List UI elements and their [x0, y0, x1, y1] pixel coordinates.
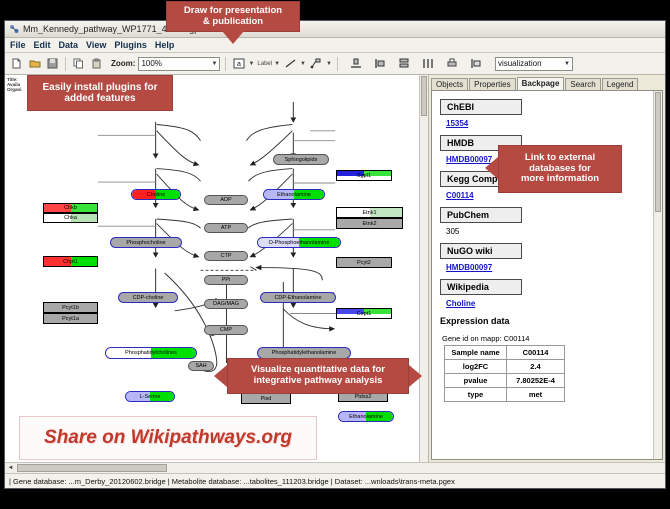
expression-table: Sample name C00114 log2FC 2.4 pvalue 7.8…: [444, 345, 565, 402]
node-ctp[interactable]: CTP: [204, 251, 248, 261]
svg-text:a: a: [237, 61, 241, 68]
open-folder-icon[interactable]: [27, 56, 42, 71]
canvas-horizontal-scrollbar[interactable]: ◄: [5, 462, 665, 473]
distribute-icon[interactable]: [421, 56, 436, 71]
chevron-down-icon[interactable]: ▼: [300, 61, 306, 67]
node-atp[interactable]: ATP: [204, 223, 248, 233]
pathvisio-window: Mm_Kennedy_pathway_WP1771_45176.gpml Fil…: [4, 20, 666, 489]
node-ethanolamine[interactable]: Ethanolamine: [263, 189, 325, 200]
share-banner: Share on Wikipathways.org: [19, 416, 317, 460]
tab-objects[interactable]: Objects: [431, 78, 468, 90]
tab-properties[interactable]: Properties: [469, 78, 515, 90]
tab-legend[interactable]: Legend: [602, 78, 639, 90]
toolbar-separator-3: [337, 57, 338, 71]
toolbar-separator-1: [65, 57, 66, 71]
toolbar-separator-2: [225, 57, 226, 71]
callout-link-arrow: [485, 157, 498, 179]
callout-draw-line1: Draw for presentation: [184, 6, 282, 17]
align-left-icon[interactable]: [373, 56, 388, 71]
label-tool-label[interactable]: Label: [257, 61, 272, 67]
callout-link: Link to external databases for more info…: [498, 145, 622, 193]
callout-visualize-arrow-right: [409, 365, 422, 387]
chevron-down-icon: ▼: [211, 61, 217, 67]
visualization-value: visualization: [498, 59, 542, 68]
expr-key-sample-name: Sample name: [445, 346, 507, 360]
table-row: type met: [445, 388, 565, 402]
node-cdp-choline[interactable]: CDP-choline: [118, 292, 178, 303]
sidebar-tabs: Objects Properties Backpage Search Legen…: [429, 75, 665, 90]
node-cmp[interactable]: CMP: [204, 325, 248, 335]
sidebar-vscroll-thumb[interactable]: [655, 92, 661, 212]
db-link-chebi[interactable]: 15354: [446, 119, 662, 128]
chevron-down-icon: ▼: [564, 61, 570, 67]
pathway-canvas-pane[interactable]: Title: Availa Organi: [5, 75, 429, 462]
db-header-chebi: ChEBI: [440, 99, 522, 115]
text-label-icon[interactable]: a: [231, 56, 246, 71]
callout-plugins: Easily install plugins for added feature…: [27, 75, 173, 111]
title-bar: Mm_Kennedy_pathway_WP1771_45176.gpml: [5, 21, 665, 38]
gene-pisd[interactable]: Pisd: [241, 393, 291, 404]
align-bottom-icon[interactable]: [349, 56, 364, 71]
expr-key-log2fc: log2FC: [445, 360, 507, 374]
canvas-hscroll-thumb[interactable]: [17, 464, 167, 472]
expression-data-heading: Expression data: [440, 316, 662, 326]
table-row: log2FC 2.4: [445, 360, 565, 374]
node-sphingolipids[interactable]: Sphingolipids: [273, 154, 329, 165]
node-choline-top[interactable]: Choline: [131, 189, 181, 200]
callout-link-line3: more information: [521, 174, 599, 185]
scroll-left-icon[interactable]: ◄: [5, 464, 16, 473]
order-icon[interactable]: [469, 56, 484, 71]
menu-item-plugins[interactable]: Plugins: [114, 40, 147, 50]
table-row: Sample name C00114: [445, 346, 565, 360]
new-file-icon[interactable]: [9, 56, 24, 71]
gene-pcyt1b[interactable]: Pcyt1b: [43, 302, 98, 313]
print-icon[interactable]: [445, 56, 460, 71]
node-phosphatidylcholines[interactable]: Phosphatidylcholines: [105, 347, 197, 359]
gene-chkb[interactable]: Chkb: [43, 203, 98, 213]
stack-vertical-icon[interactable]: [397, 56, 412, 71]
canvas-vscroll-thumb[interactable]: [421, 76, 427, 116]
gene-pcyt1a[interactable]: Pcyt1a: [43, 313, 98, 324]
main-split: Title: Availa Organi: [5, 75, 665, 462]
expr-value-log2fc: 2.4: [507, 360, 565, 374]
tab-search[interactable]: Search: [565, 78, 600, 90]
zoom-combo[interactable]: 100% ▼: [138, 57, 220, 71]
gene-pcyt2[interactable]: Pcyt2: [336, 257, 392, 268]
node-l-serine-left[interactable]: L-Serine: [125, 391, 175, 402]
menu-item-help[interactable]: Help: [155, 40, 175, 50]
gene-id-on-mapp: Gene id on mapp: C00114: [442, 334, 662, 343]
chevron-down-icon[interactable]: ▼: [326, 61, 332, 67]
expr-value-sample-name: C00114: [507, 346, 565, 360]
callout-link-line1: Link to external: [525, 153, 595, 164]
gene-chpt1[interactable]: Chpt1: [43, 256, 98, 267]
menu-item-edit[interactable]: Edit: [34, 40, 51, 50]
node-adp[interactable]: ADP: [204, 195, 248, 205]
menu-bar: File Edit Data View Plugins Help: [5, 38, 665, 53]
node-sah[interactable]: SAH: [188, 361, 214, 371]
copy-icon[interactable]: [71, 56, 86, 71]
gene-cept1[interactable]: Cept1: [336, 308, 392, 319]
node-phosphocholine[interactable]: Phosphocholine: [110, 237, 182, 248]
node-ppi[interactable]: PPi: [204, 275, 248, 285]
node-cdp-ethanolamine[interactable]: CDP-Ethanolamine: [260, 292, 336, 303]
line-icon[interactable]: [283, 56, 298, 71]
callout-visualize-arrow-left: [214, 365, 227, 387]
db-header-nugo: NuGO wiki: [440, 243, 522, 259]
share-banner-text: Share on Wikipathways.org: [44, 427, 292, 449]
save-icon[interactable]: [45, 56, 60, 71]
chevron-down-icon[interactable]: ▼: [274, 61, 280, 67]
node-o-phosphoethanolamine[interactable]: O-Phosphoethanolamine: [257, 237, 341, 248]
visualization-combo[interactable]: visualization ▼: [495, 57, 573, 71]
expr-key-type: type: [445, 388, 507, 402]
tab-backpage[interactable]: Backpage: [517, 77, 565, 90]
menu-item-file[interactable]: File: [10, 40, 26, 50]
zoom-label: Zoom:: [111, 59, 135, 68]
gene-sgpl1[interactable]: Sgpl1: [336, 170, 392, 181]
db-link-wikipedia[interactable]: Choline: [446, 299, 662, 308]
callout-draw-line2: & publication: [203, 17, 263, 28]
db-link-nugo[interactable]: HMDB00097: [446, 263, 662, 272]
shape-connector-icon[interactable]: [309, 56, 324, 71]
expr-key-pvalue: pvalue: [445, 374, 507, 388]
canvas-vertical-scrollbar[interactable]: [419, 75, 428, 462]
pathvisio-icon: [9, 24, 19, 34]
gene-etnk1[interactable]: Etnk1: [336, 207, 403, 218]
zoom-value: 100%: [141, 59, 161, 68]
callout-draw: Draw for presentation & publication: [166, 1, 300, 32]
callout-visualize: Visualize quantitative data for integrat…: [227, 358, 409, 394]
toolbar: Zoom: 100% ▼ a ▼ Label ▼ ▼ ▼: [5, 53, 665, 75]
status-bar: | Gene database: ...m_Derby_20120602.bri…: [5, 473, 665, 488]
db-value-pubchem: 305: [446, 227, 662, 236]
menu-item-view[interactable]: View: [86, 40, 106, 50]
node-ethanolamine-bottom[interactable]: Ethanolamine: [338, 411, 394, 422]
paste-icon[interactable]: [89, 56, 104, 71]
sidebar-vertical-scrollbar[interactable]: [653, 91, 662, 459]
menu-item-data[interactable]: Data: [59, 40, 79, 50]
chevron-down-icon[interactable]: ▼: [248, 61, 254, 67]
node-dagmag[interactable]: DAG/MAG: [204, 299, 248, 309]
backpage-panel: ChEBI 15354 HMDB HMDB00097 Kegg Compound…: [431, 90, 663, 460]
expr-value-pvalue: 7.80252E-4: [507, 374, 565, 388]
callout-visualize-line2: integrative pathway analysis: [254, 376, 383, 387]
db-header-pubchem: PubChem: [440, 207, 522, 223]
gene-chka[interactable]: Chka: [43, 213, 98, 223]
callout-draw-arrow: [222, 31, 244, 44]
gene-etnk2[interactable]: Etnk2: [336, 218, 403, 229]
table-row: pvalue 7.80252E-4: [445, 374, 565, 388]
sidebar: Objects Properties Backpage Search Legen…: [429, 75, 665, 462]
callout-plugins-line1: Easily install plugins for: [42, 82, 157, 94]
pathway-nodes: ADP ATP CTP PPi DAG/MAG CMP SAH Sphingol…: [5, 75, 428, 462]
expr-value-type: met: [507, 388, 565, 402]
db-header-wikipedia: Wikipedia: [440, 279, 522, 295]
status-bar-text: | Gene database: ...m_Derby_20120602.bri…: [9, 477, 455, 486]
callout-plugins-line2: added features: [64, 93, 135, 105]
